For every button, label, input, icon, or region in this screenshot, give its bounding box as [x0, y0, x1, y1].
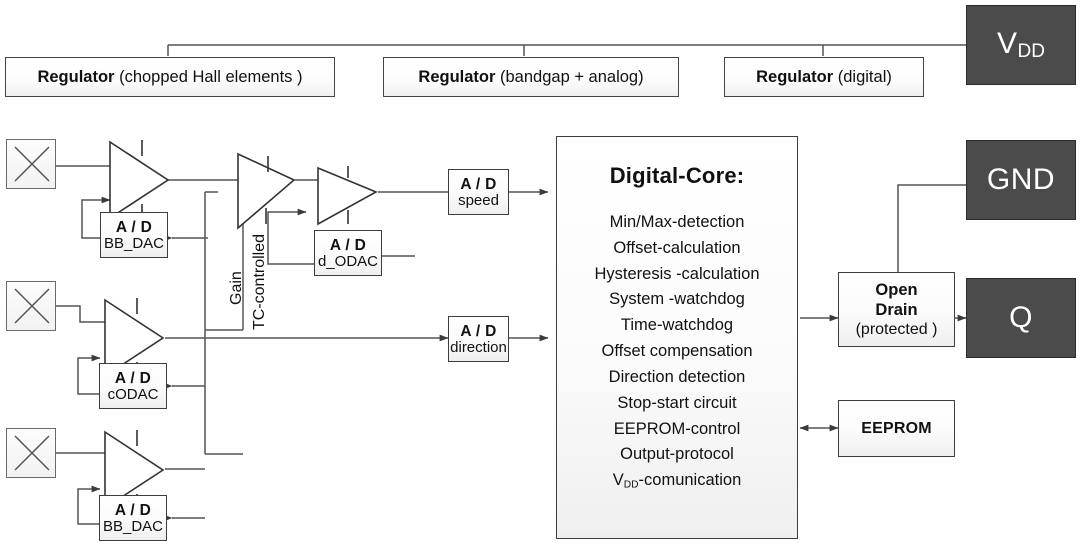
core-function: Output-protocol	[594, 442, 759, 468]
cross-icon	[7, 139, 55, 189]
digital-core-block[interactable]: Digital-Core: Min/Max-detection Offset-c…	[556, 136, 798, 539]
pad-vdd[interactable]: VDD	[966, 5, 1076, 85]
cross-icon	[7, 281, 55, 331]
dac-4-top: A / D	[115, 503, 151, 519]
eeprom-label: EEPROM	[861, 420, 932, 438]
adc-block-speed[interactable]: A / D speed	[448, 169, 509, 215]
core-function: Offset compensation	[594, 339, 759, 365]
adc-direction-top: A / D	[460, 324, 496, 340]
core-function: Min/Max-detection	[594, 210, 759, 236]
dac-2-bottom: d_ODAC	[318, 254, 378, 269]
dac-3-top: A / D	[115, 371, 151, 387]
regulator-block-digital[interactable]: Regulator (digital)	[724, 57, 924, 97]
pad-q[interactable]: Q	[966, 278, 1076, 358]
tc-controlled-label: TC-controlled	[251, 234, 269, 330]
dac-block-codac[interactable]: A / D cODAC	[99, 363, 167, 409]
core-function: EEPROM-control	[594, 417, 759, 443]
amplifier-2[interactable]	[236, 152, 298, 230]
open-drain-line1: Open	[875, 280, 917, 300]
core-function: Hysteresis -calculation	[594, 262, 759, 288]
dac-4-bottom: BB_DAC	[103, 519, 163, 534]
core-function: System -watchdog	[594, 287, 759, 313]
adc-direction-bottom: direction	[450, 340, 507, 355]
amplifier-1[interactable]	[108, 140, 172, 220]
pad-vdd-label: VDD	[997, 27, 1045, 63]
dac-block-bb-dac-2[interactable]: A / D BB_DAC	[99, 495, 167, 541]
cross-icon	[7, 428, 55, 478]
core-function: Stop-start circuit	[594, 391, 759, 417]
eeprom-block[interactable]: EEPROM	[838, 400, 955, 457]
pad-q-label: Q	[1009, 301, 1033, 335]
adc-block-direction[interactable]: A / D direction	[448, 316, 509, 362]
core-function-vdd: VDD-comunication	[594, 468, 759, 494]
amplifier-4[interactable]	[316, 166, 380, 226]
regulator-block-hall[interactable]: Regulator (chopped Hall elements )	[5, 57, 335, 97]
open-drain-block[interactable]: Open Drain (protected )	[838, 272, 955, 347]
open-drain-line2: Drain	[875, 300, 917, 320]
regulator-block-analog[interactable]: Regulator (bandgap + analog)	[383, 57, 679, 97]
regulator-hall-label: Regulator (chopped Hall elements )	[37, 68, 302, 86]
adc-speed-top: A / D	[460, 177, 496, 193]
dac-2-top: A / D	[330, 238, 366, 254]
pad-gnd-label: GND	[987, 163, 1055, 197]
digital-core-content: Digital-Core: Min/Max-detection Offset-c…	[557, 163, 797, 494]
core-function: Offset-calculation	[594, 236, 759, 262]
dac-1-bottom: BB_DAC	[104, 236, 164, 251]
hall-element-1[interactable]	[6, 139, 56, 189]
block-diagram-canvas: Regulator (chopped Hall elements ) Regul…	[0, 0, 1080, 547]
dac-3-bottom: cODAC	[108, 387, 159, 402]
digital-core-title: Digital-Core:	[610, 163, 745, 189]
dac-1-top: A / D	[116, 220, 152, 236]
digital-core-function-list: Min/Max-detection Offset-calculation Hys…	[594, 210, 759, 494]
core-function: Direction detection	[594, 365, 759, 391]
hall-element-2[interactable]	[6, 281, 56, 331]
core-function: Time-watchdog	[594, 313, 759, 339]
pad-gnd[interactable]: GND	[966, 140, 1076, 220]
gain-label: Gain	[228, 271, 246, 305]
regulator-digital-label: Regulator (digital)	[756, 68, 892, 86]
dac-block-bb-dac-1[interactable]: A / D BB_DAC	[100, 212, 168, 258]
hall-element-3[interactable]	[6, 428, 56, 478]
adc-speed-bottom: speed	[458, 193, 499, 208]
open-drain-line3: (protected )	[856, 320, 938, 340]
regulator-analog-label: Regulator (bandgap + analog)	[418, 68, 643, 86]
dac-block-d-odac[interactable]: A / D d_ODAC	[314, 230, 382, 276]
